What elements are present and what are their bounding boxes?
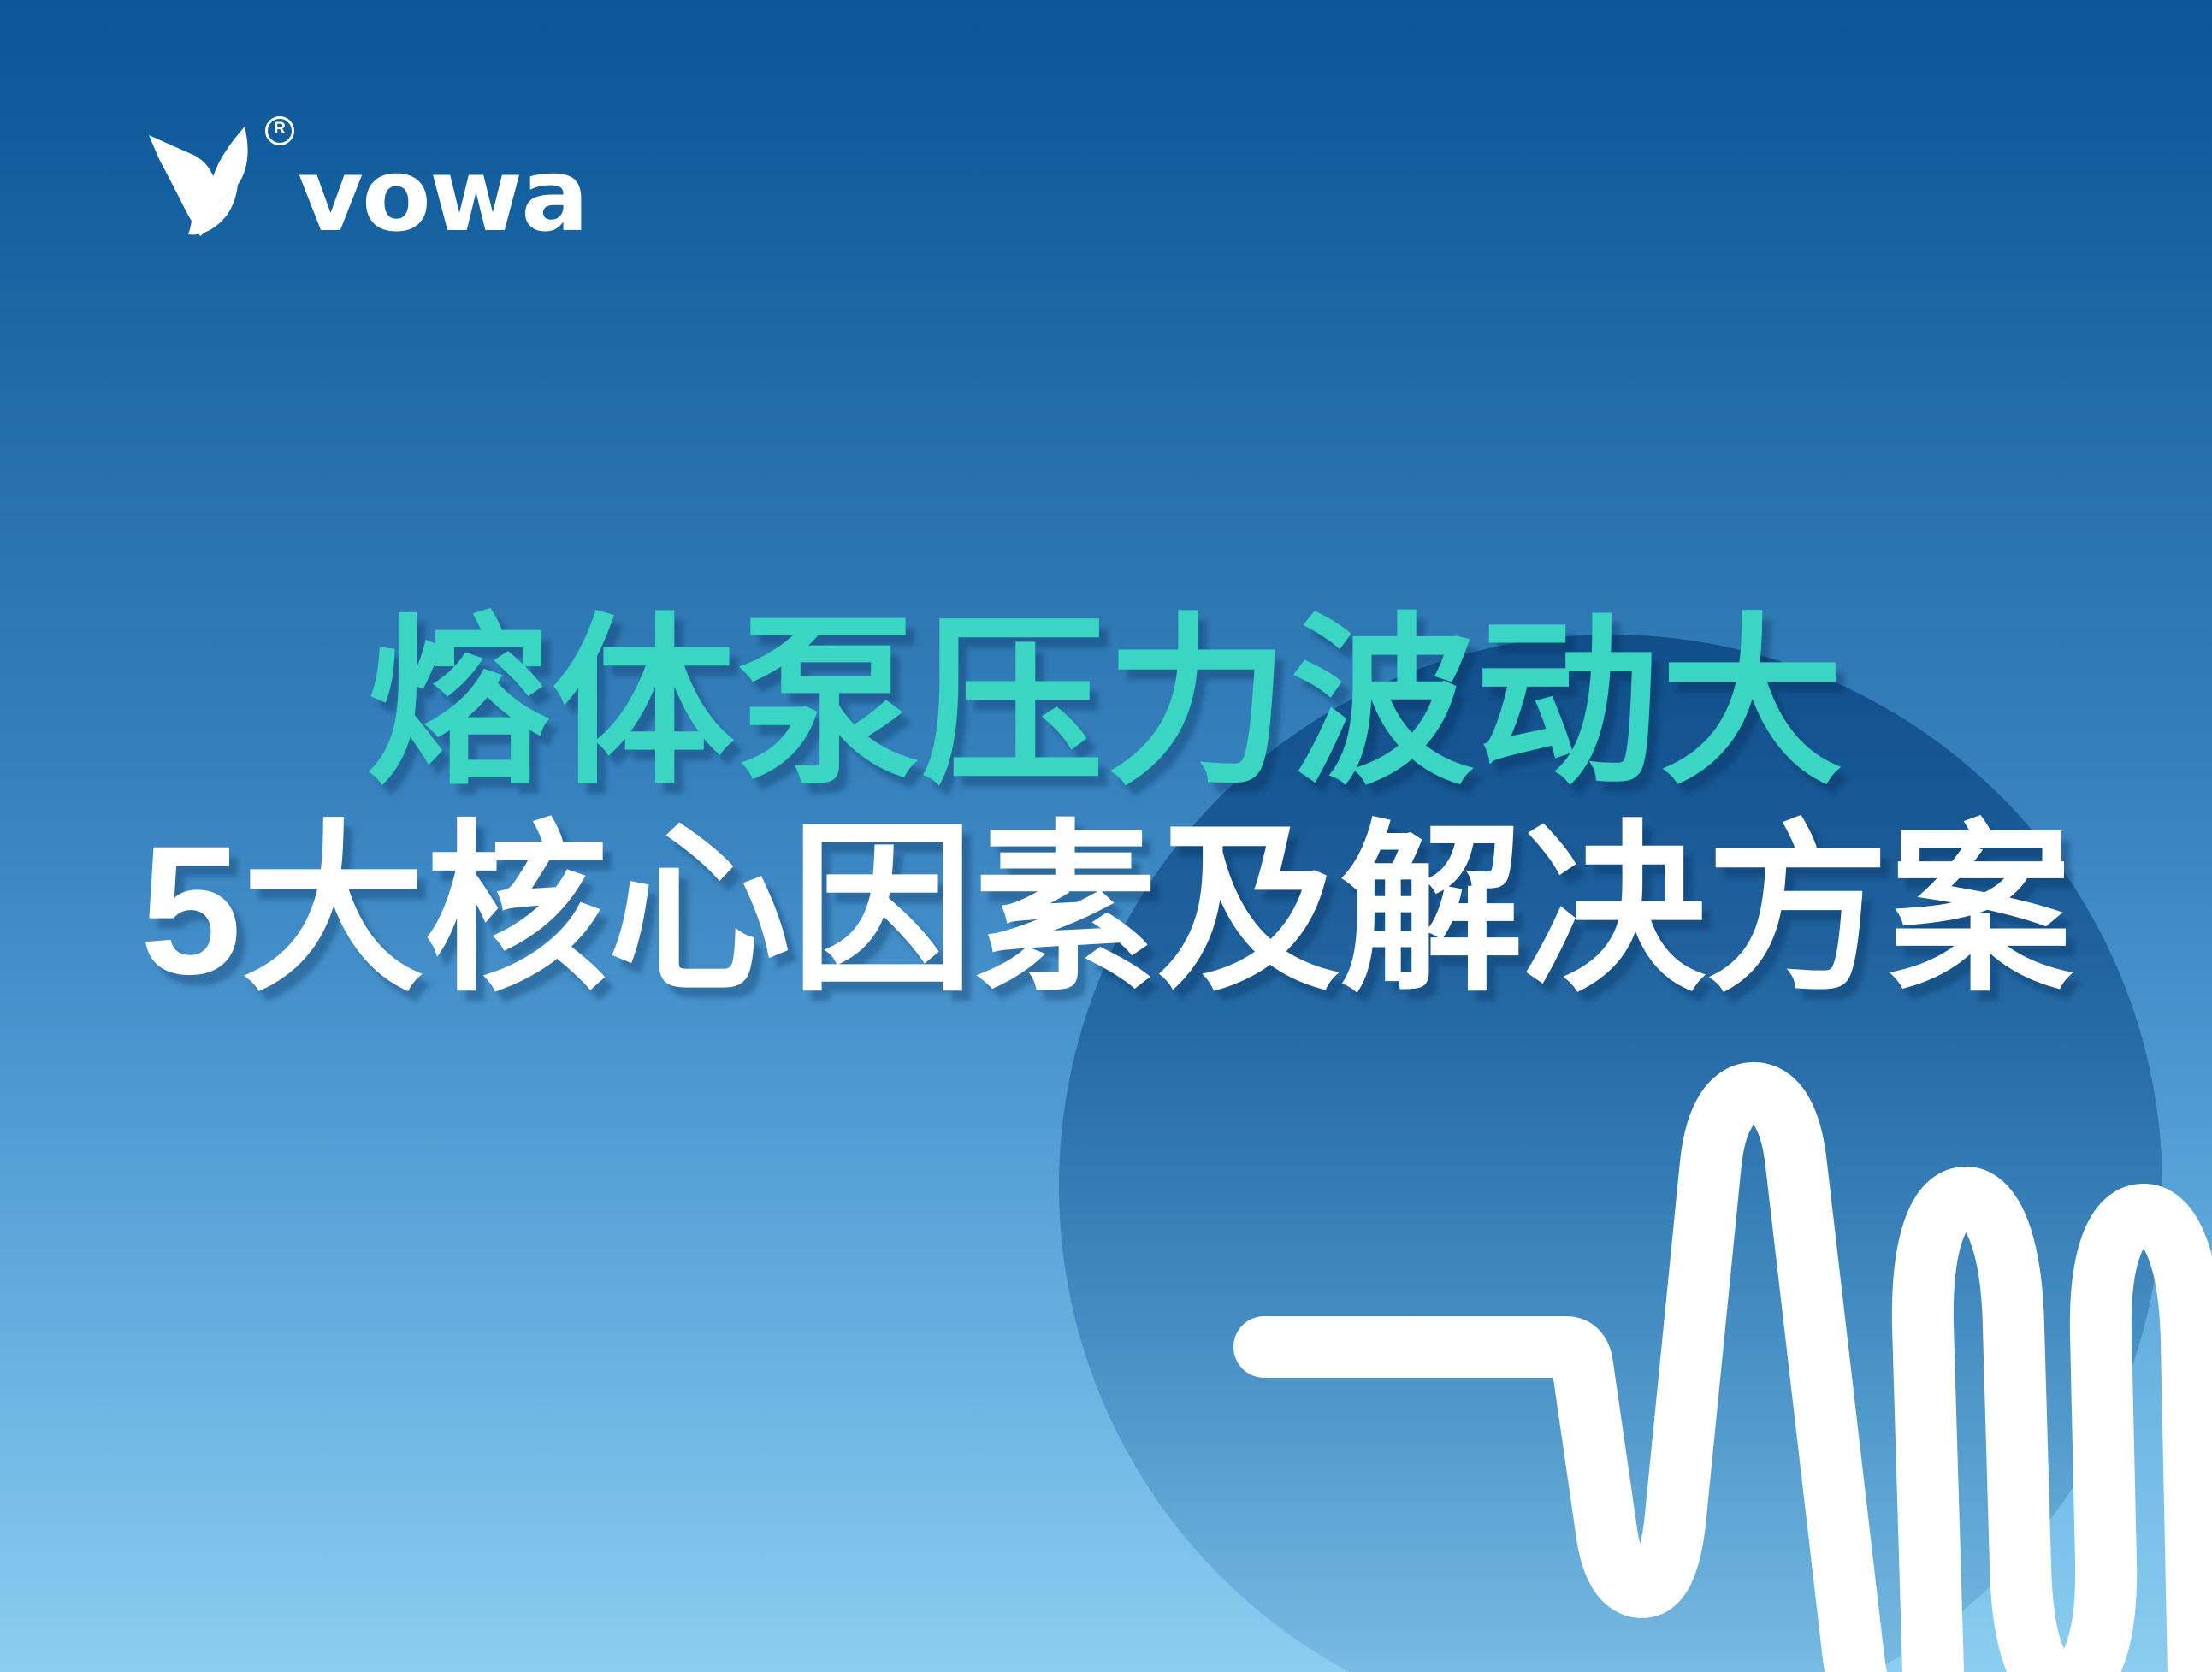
vowa-bird-mark-icon: R bbox=[144, 111, 281, 239]
pressure-waveform-icon bbox=[1198, 1052, 2212, 1672]
vowa-logo[interactable]: R vowa bbox=[144, 120, 588, 239]
headline-block: 熔体泵压力波动大 5大核心因素及解决方案 bbox=[0, 612, 2212, 1002]
vowa-wordmark: vowa bbox=[298, 153, 588, 238]
registered-trademark-icon: R bbox=[265, 116, 294, 145]
headline-line-2: 5大核心因素及解决方案 bbox=[0, 819, 2212, 1002]
headline-line-1: 熔体泵压力波动大 bbox=[0, 612, 2212, 795]
poster-canvas: R vowa 熔体泵压力波动大 5大核心因素及解决方案 bbox=[0, 0, 2212, 1672]
